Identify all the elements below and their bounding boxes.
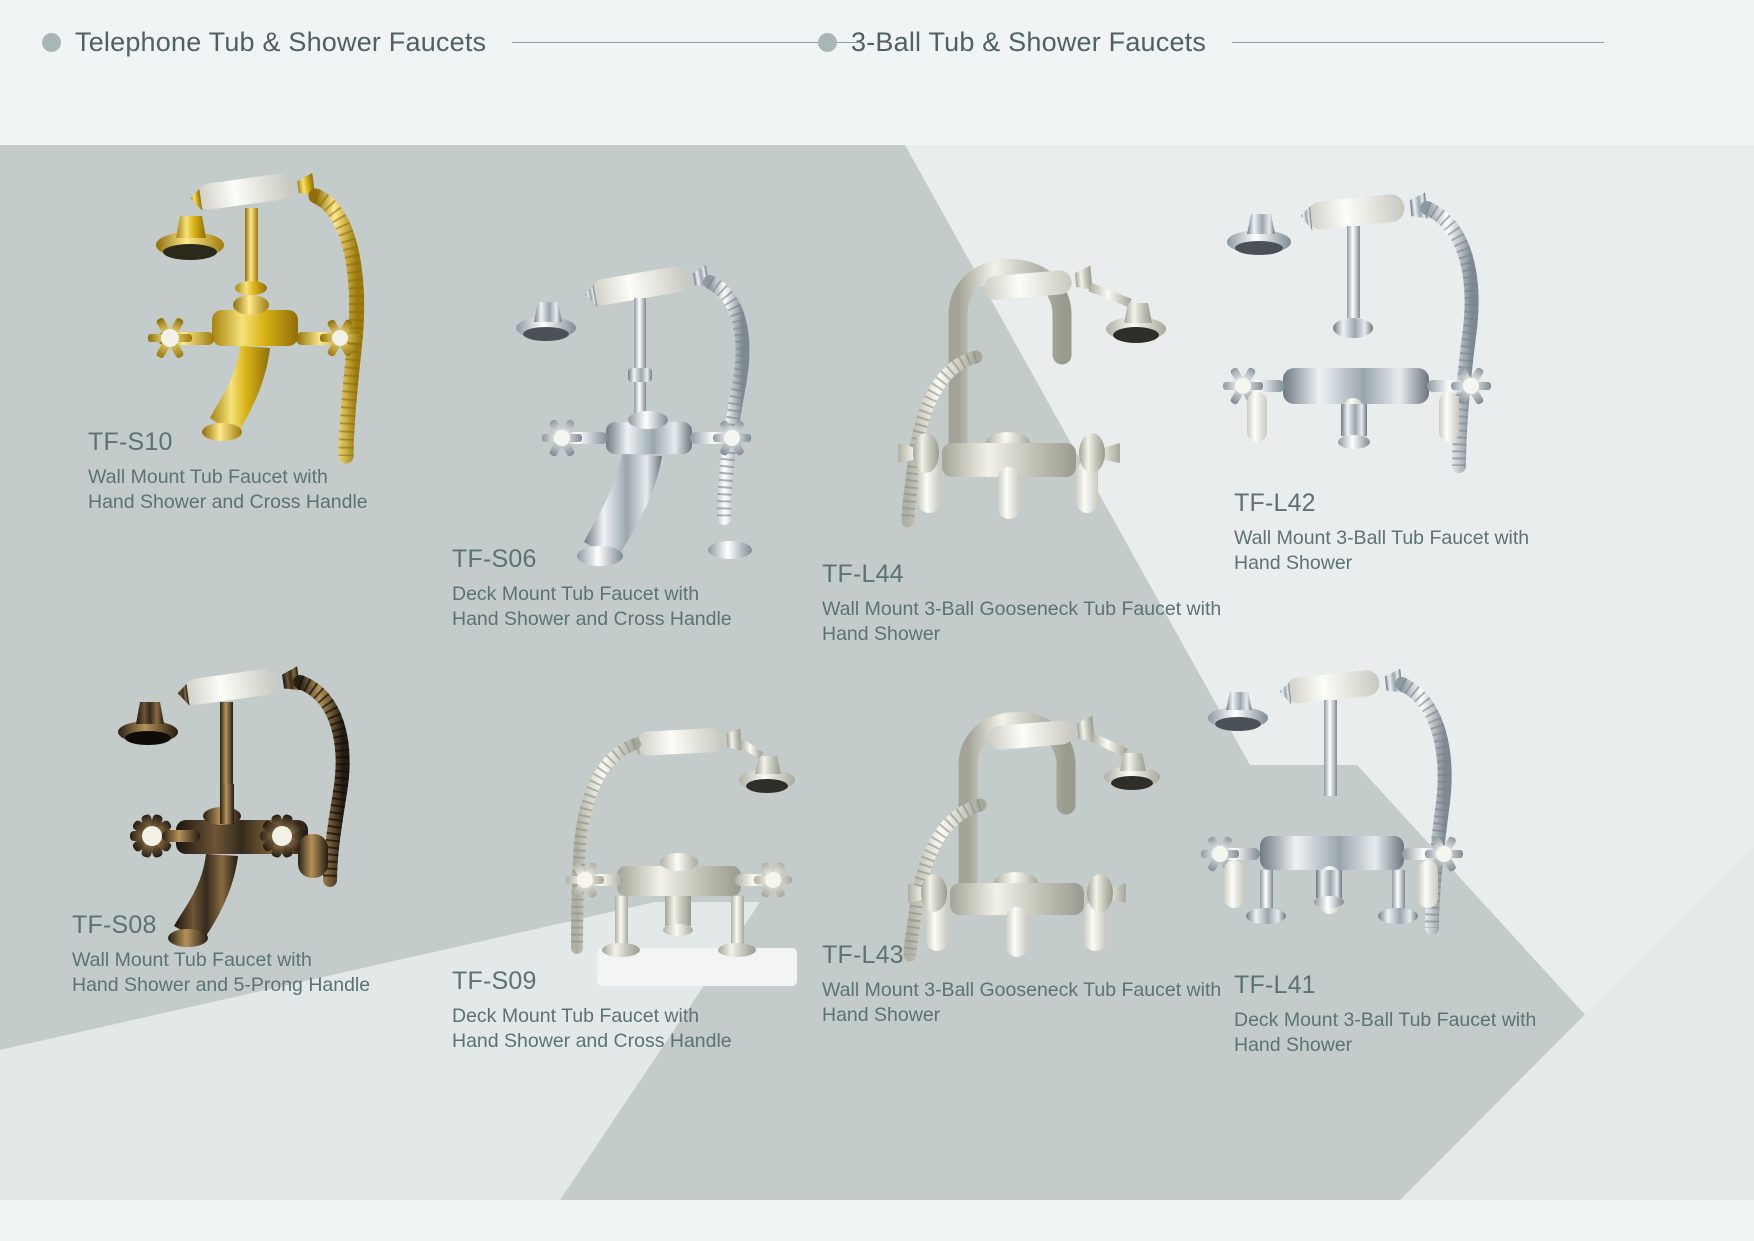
desc-line-1: Wall Mount 3-Ball Gooseneck Tub Faucet w… — [822, 978, 1221, 1003]
desc-line-1: Wall Mount 3-Ball Gooseneck Tub Faucet w… — [822, 597, 1221, 622]
product-description-tf-s09: Deck Mount Tub Faucet with Hand Shower a… — [452, 1004, 732, 1054]
product-code-tf-s08: TF-S08 — [72, 911, 370, 940]
bullet-dot-icon — [818, 33, 837, 52]
product-block-tf-l42: TF-L42 Wall Mount 3-Ball Tub Faucet with… — [1234, 489, 1529, 576]
product-description-tf-s08: Wall Mount Tub Faucet with Hand Shower a… — [72, 948, 370, 998]
handle-hot — [1247, 392, 1267, 442]
bullet-dot-icon — [42, 33, 61, 52]
product-code-tf-s09: TF-S09 — [452, 967, 732, 996]
product-image-tf-l44 — [880, 195, 1180, 535]
desc-line-1: Wall Mount Tub Faucet with — [72, 948, 370, 973]
section-title-3ball: 3-Ball Tub & Shower Faucets — [851, 27, 1206, 58]
product-block-tf-l43: TF-L43 Wall Mount 3-Ball Gooseneck Tub F… — [822, 941, 1221, 1028]
catalog-page: Telephone Tub & Shower Faucets 3-Ball Tu… — [0, 0, 1754, 1241]
product-code-tf-s10: TF-S10 — [88, 428, 368, 457]
product-block-tf-l41: TF-L41 Deck Mount 3-Ball Tub Faucet with… — [1234, 971, 1536, 1058]
product-code-tf-l42: TF-L42 — [1234, 489, 1529, 518]
handle-hot — [1224, 860, 1244, 908]
product-block-tf-s10: TF-S10 Wall Mount Tub Faucet with Hand S… — [88, 428, 368, 515]
product-block-tf-s06: TF-S06 Deck Mount Tub Faucet with Hand S… — [452, 545, 732, 632]
product-image-tf-s06 — [510, 250, 770, 580]
product-code-tf-s06: TF-S06 — [452, 545, 732, 574]
desc-line-1: Deck Mount Tub Faucet with — [452, 582, 732, 607]
product-description-tf-s10: Wall Mount Tub Faucet with Hand Shower a… — [88, 465, 368, 515]
product-description-tf-l44: Wall Mount 3-Ball Gooseneck Tub Faucet w… — [822, 597, 1221, 647]
product-image-tf-l41 — [1190, 640, 1490, 970]
header-section-telephone: Telephone Tub & Shower Faucets — [42, 27, 857, 58]
desc-line-2: Hand Shower and Cross Handle — [88, 490, 368, 515]
product-image-tf-l43 — [880, 655, 1180, 965]
product-image-tf-s09 — [545, 700, 805, 1000]
product-description-tf-l42: Wall Mount 3-Ball Tub Faucet with Hand S… — [1234, 526, 1529, 576]
product-code-tf-l43: TF-L43 — [822, 941, 1221, 970]
desc-line-2: Hand Shower — [1234, 1033, 1536, 1058]
handle-cold — [1439, 392, 1459, 442]
product-description-tf-l41: Deck Mount 3-Ball Tub Faucet with Hand S… — [1234, 1008, 1536, 1058]
desc-line-1: Wall Mount Tub Faucet with — [88, 465, 368, 490]
product-block-tf-l44: TF-L44 Wall Mount 3-Ball Gooseneck Tub F… — [822, 560, 1221, 647]
desc-line-1: Deck Mount Tub Faucet with — [452, 1004, 732, 1029]
desc-line-1: Wall Mount 3-Ball Tub Faucet with — [1234, 526, 1529, 551]
product-description-tf-s06: Deck Mount Tub Faucet with Hand Shower a… — [452, 582, 732, 632]
desc-line-2: Hand Shower and Cross Handle — [452, 607, 732, 632]
header-rule-1 — [512, 42, 857, 43]
handle-shower — [998, 467, 1020, 519]
product-image-tf-s10 — [140, 160, 400, 460]
desc-line-2: Hand Shower — [822, 1003, 1221, 1028]
header-rule-2 — [1232, 42, 1604, 43]
product-block-tf-s08: TF-S08 Wall Mount Tub Faucet with Hand S… — [72, 911, 370, 998]
product-block-tf-s09: TF-S09 Deck Mount Tub Faucet with Hand S… — [452, 967, 732, 1054]
desc-line-1: Deck Mount 3-Ball Tub Faucet with — [1234, 1008, 1536, 1033]
desc-line-2: Hand Shower — [1234, 551, 1529, 576]
desc-line-2: Hand Shower — [822, 622, 1221, 647]
page-footer — [0, 1200, 1754, 1241]
product-image-tf-l42 — [1215, 160, 1515, 510]
desc-line-2: Hand Shower and Cross Handle — [452, 1029, 732, 1054]
page-header: Telephone Tub & Shower Faucets 3-Ball Tu… — [0, 0, 1754, 145]
header-section-3ball: 3-Ball Tub & Shower Faucets — [818, 27, 1604, 58]
section-title-telephone: Telephone Tub & Shower Faucets — [75, 27, 486, 58]
desc-line-2: Hand Shower and 5-Prong Handle — [72, 973, 370, 998]
product-code-tf-l41: TF-L41 — [1234, 971, 1536, 1000]
product-description-tf-l43: Wall Mount 3-Ball Gooseneck Tub Faucet w… — [822, 978, 1221, 1028]
handle-cold — [1418, 860, 1438, 908]
product-code-tf-l44: TF-L44 — [822, 560, 1221, 589]
